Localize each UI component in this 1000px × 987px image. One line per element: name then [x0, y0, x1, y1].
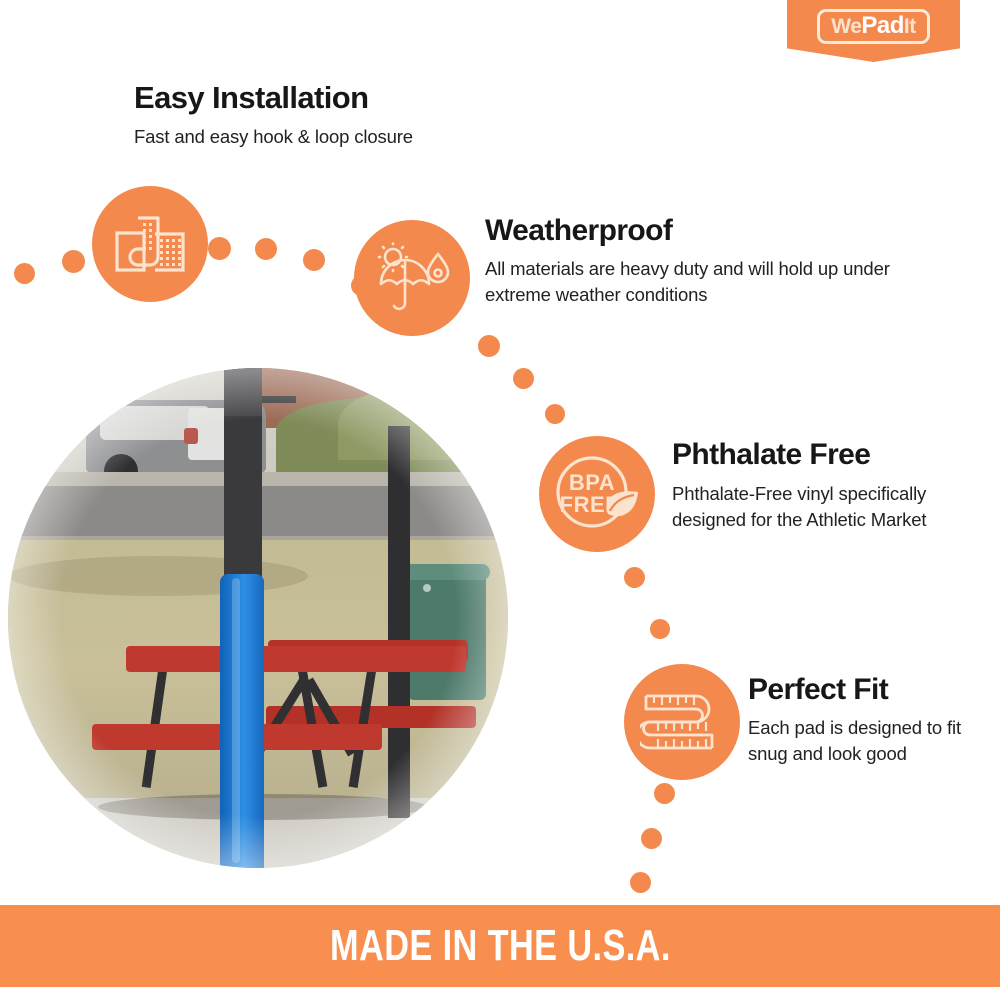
hook-and-loop-strap-icon	[92, 186, 208, 302]
path-dot	[545, 404, 565, 424]
path-dot	[255, 238, 277, 260]
path-dot	[303, 249, 325, 271]
bpa-free-leaf-icon: BPA FREE	[539, 436, 655, 552]
product-photo	[8, 368, 508, 868]
path-dot	[208, 237, 231, 260]
brand-text-pad: Pad	[861, 14, 904, 38]
feature-title-easy-installation: Easy Installation	[134, 80, 368, 116]
feature-title-perfect-fit: Perfect Fit	[748, 673, 888, 707]
made-in-usa-banner: MADE IN THE U.S.A.	[0, 905, 1000, 987]
feature-description-perfect-fit: Each pad is designed to fit snug and loo…	[748, 715, 976, 768]
brand-text-we: We	[831, 16, 861, 37]
brand-logo-plate: WePadIt	[817, 9, 929, 44]
path-dot	[62, 250, 85, 273]
path-dot	[650, 619, 670, 639]
brand-text-it: It	[904, 16, 916, 37]
feature-title-phthalate-free: Phthalate Free	[672, 438, 870, 472]
path-dot	[641, 828, 662, 849]
path-dot	[14, 263, 35, 284]
feature-description-easy-installation: Fast and easy hook & loop closure	[134, 124, 554, 150]
feature-description-weatherproof: All materials are heavy duty and will ho…	[485, 256, 905, 309]
umbrella-sun-raindrop-icon	[354, 220, 470, 336]
feature-description-phthalate-free: Phthalate-Free vinyl specifically design…	[672, 481, 937, 534]
path-dot	[513, 368, 534, 389]
path-dot	[654, 783, 675, 804]
feature-title-weatherproof: Weatherproof	[485, 214, 672, 248]
path-dot	[630, 872, 651, 893]
infographic-canvas: WePadIt Easy Installation Fast and easy …	[0, 0, 1000, 987]
path-dot	[624, 567, 645, 588]
measuring-tape-icon	[624, 664, 740, 780]
made-in-usa-text: MADE IN THE U.S.A.	[330, 921, 671, 971]
path-dot	[351, 275, 372, 296]
path-dot	[478, 335, 500, 357]
brand-banner: WePadIt	[787, 0, 960, 62]
